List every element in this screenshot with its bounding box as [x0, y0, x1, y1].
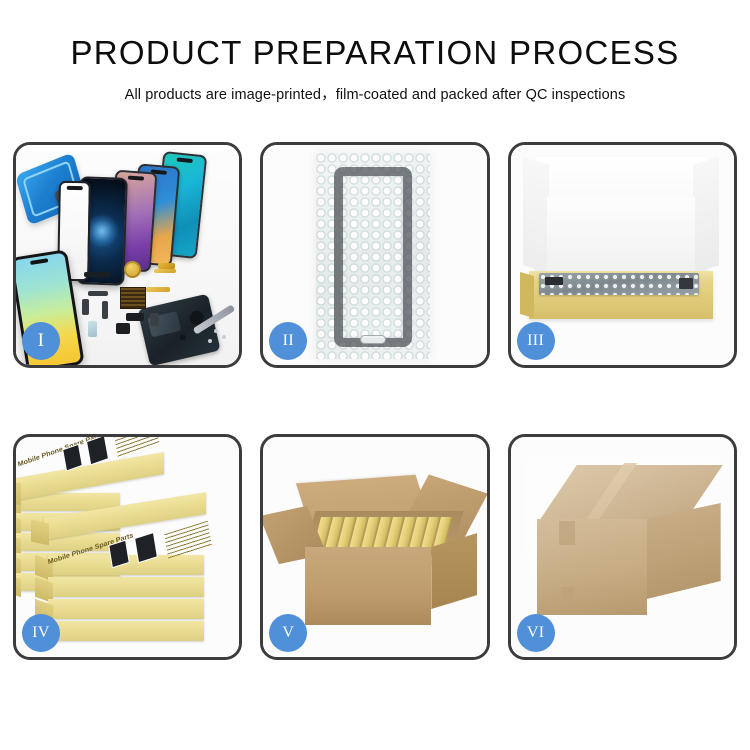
step-panel-5[interactable]: V — [260, 434, 489, 660]
screw-part-icon — [208, 339, 212, 343]
home-button-icon — [360, 335, 386, 344]
box-print-spec-lines — [164, 521, 212, 560]
page-subtitle: All products are image-printed，film-coat… — [0, 83, 750, 104]
header: PRODUCT PREPARATION PROCESS All products… — [0, 0, 750, 104]
wrapped-screen-in-box-icon — [539, 273, 699, 295]
ic-shield-part-icon — [126, 313, 144, 321]
carton-seam-icon — [561, 587, 574, 605]
antenna-flex-part-icon — [146, 287, 170, 292]
taptic-part-icon — [116, 323, 130, 334]
step-badge-3: III — [517, 322, 555, 360]
earpiece-slot-icon — [360, 170, 386, 174]
grey-bracket-part-icon — [88, 291, 108, 296]
step-badge-4: IV — [22, 614, 60, 652]
yellow-box-icon — [48, 621, 204, 641]
camera-bracket-part-icon — [102, 301, 108, 319]
phone-screen-outline-icon — [334, 167, 412, 347]
vibration-motor-part-icon — [124, 261, 141, 278]
step-panel-1[interactable]: I — [13, 142, 242, 368]
screw-part-icon — [214, 329, 218, 333]
yellow-box-icon — [48, 599, 204, 619]
step-panel-4[interactable]: Mobile Phone Spare Parts Mobile Phone Sp… — [13, 434, 242, 660]
box-print-swatch-icon — [86, 437, 109, 465]
carton-seam-icon — [559, 521, 575, 545]
step-panel-2[interactable]: II — [260, 142, 489, 368]
box-print-spec-lines — [114, 437, 160, 459]
step-badge-6: VI — [517, 614, 555, 652]
step-panel-6[interactable]: VI — [508, 434, 737, 660]
screw-part-icon — [222, 335, 226, 339]
box-print-swatch-icon — [62, 444, 83, 472]
glass-lens-part-icon — [88, 321, 97, 337]
steps-grid: I II III — [13, 142, 737, 687]
step-badge-1: I — [22, 322, 60, 360]
carton-front-face-icon — [305, 547, 431, 625]
speaker-mesh-part-icon — [84, 272, 110, 277]
side-bracket-part-icon — [82, 299, 89, 315]
white-foam-insert-icon — [547, 197, 695, 275]
page-title: PRODUCT PREPARATION PROCESS — [0, 36, 750, 71]
power-flex-part-icon — [154, 269, 176, 273]
sealed-carton-front-face-icon — [537, 519, 647, 615]
bubble-wrap-sheet-icon — [316, 153, 430, 359]
connector-chip-part-icon — [120, 287, 146, 309]
step-panel-3[interactable]: III — [508, 142, 737, 368]
battery-connector-part-icon — [150, 313, 159, 326]
sealed-carton-side-face-icon — [647, 503, 721, 599]
yellow-box-icon — [48, 577, 204, 597]
product-preparation-infographic: PRODUCT PREPARATION PROCESS All products… — [0, 0, 750, 750]
